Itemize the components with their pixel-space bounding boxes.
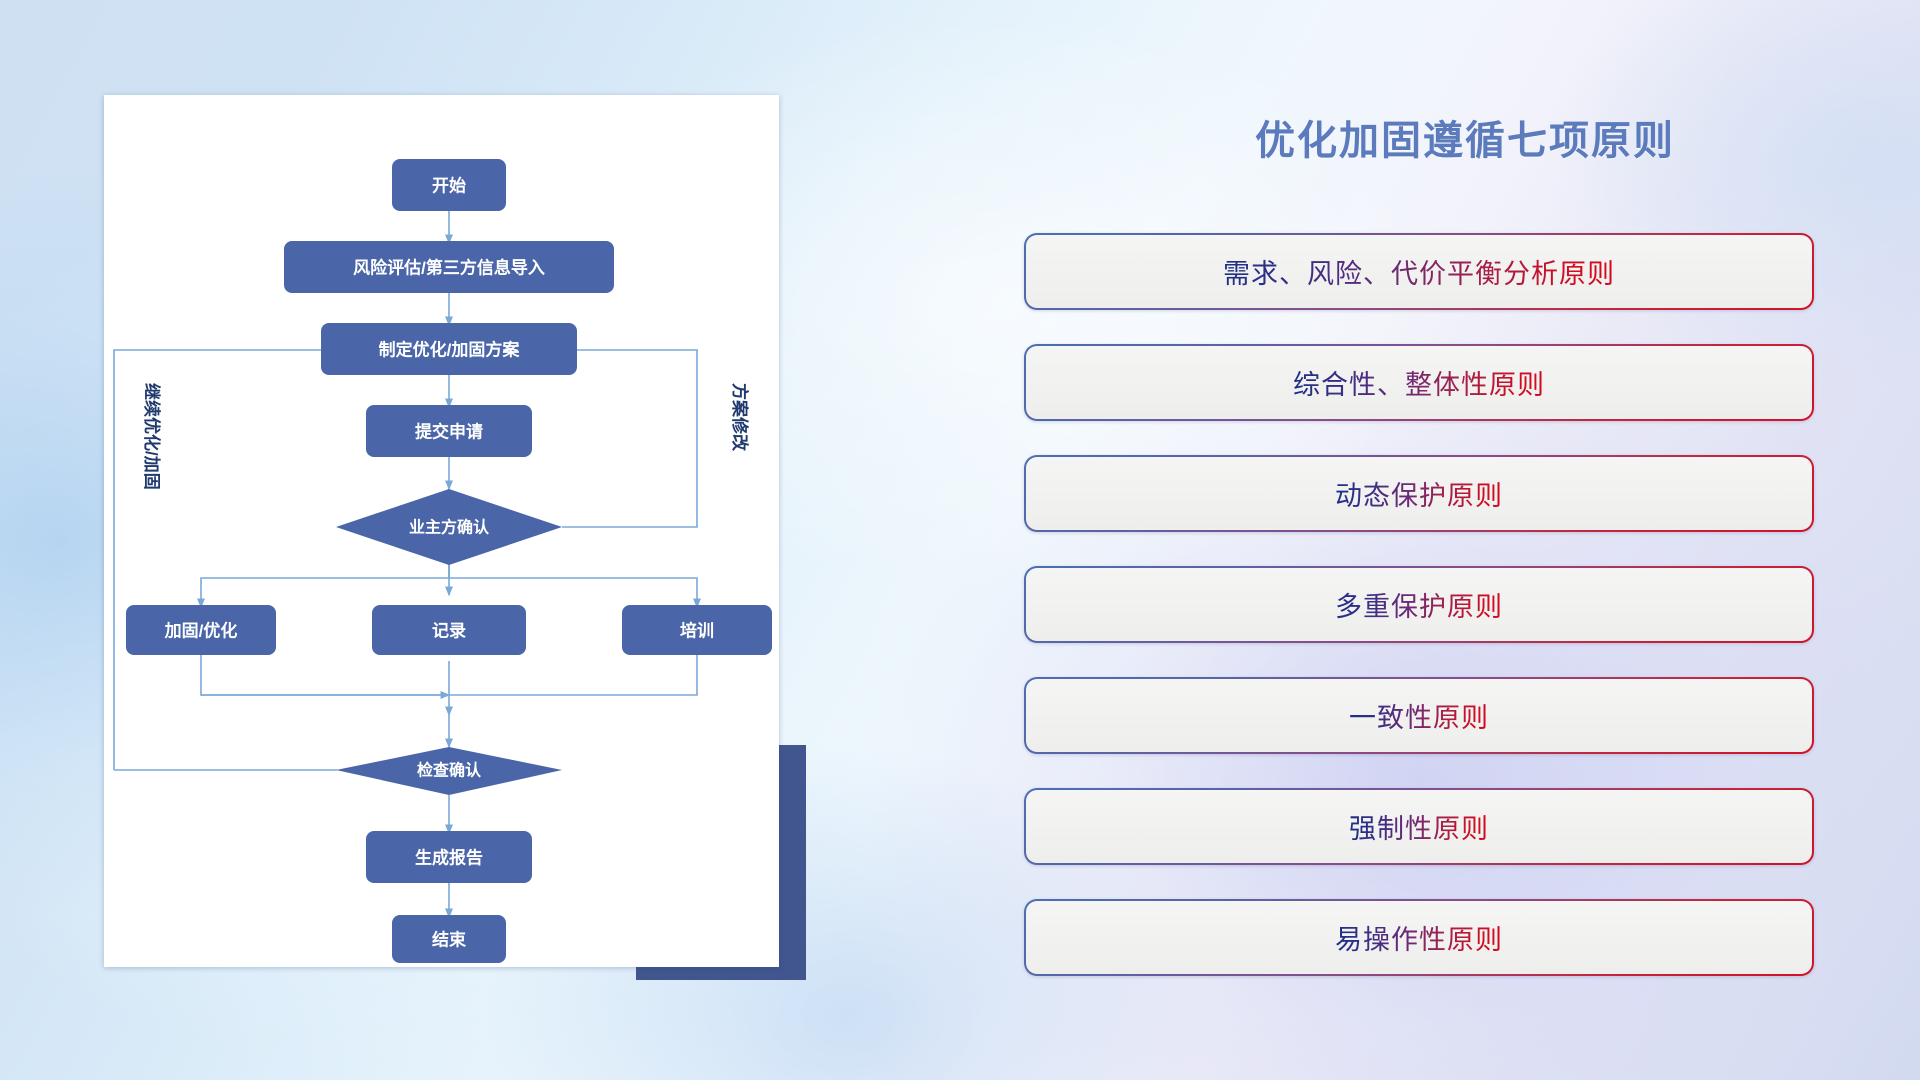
flowchart-panel: 开始 风险评估/第三方信息导入 制定优化/加固方案 提交申请 业主方确认 加固/ [0, 0, 860, 1080]
flow-node-submit-label: 提交申请 [415, 422, 483, 442]
flowchart-card: 开始 风险评估/第三方信息导入 制定优化/加固方案 提交申请 业主方确认 加固/ [104, 95, 779, 967]
principle-card-7[interactable]: 易操作性原则 [1024, 899, 1814, 976]
flow-merge-rails [114, 655, 697, 770]
flow-node-plan-label: 制定优化/加固方案 [379, 340, 521, 360]
flow-node-risk[interactable]: 风险评估/第三方信息导入 [284, 241, 614, 293]
flowchart-diagram: 开始 风险评估/第三方信息导入 制定优化/加固方案 提交申请 业主方确认 加固/ [104, 95, 779, 967]
flow-node-start-label: 开始 [432, 176, 466, 196]
flow-node-train-label: 培训 [680, 621, 714, 641]
flow-node-risk-label: 风险评估/第三方信息导入 [353, 258, 545, 278]
flow-node-check-confirm-label: 检查确认 [417, 761, 482, 780]
principle-card-7-inner: 易操作性原则 [1026, 901, 1812, 974]
flow-node-check-confirm[interactable]: 检查确认 [336, 747, 562, 795]
principle-card-3-label: 动态保护原则 [1335, 474, 1503, 513]
page-title: 优化加固遵循七项原则 [1010, 108, 1920, 166]
principle-card-2-label: 综合性、整体性原则 [1293, 363, 1545, 402]
flow-node-start[interactable]: 开始 [392, 159, 506, 211]
flow-node-reinforce-label: 加固/优化 [164, 621, 238, 641]
flow-edge-label-right-loop: 方案修改 [730, 383, 750, 452]
flow-node-owner-confirm-label: 业主方确认 [409, 518, 490, 537]
principles-list: 需求、风险、代价平衡分析原则 综合性、整体性原则 动态保护原则 多重保护原则 一… [1024, 233, 1814, 1010]
flow-node-record-label: 记录 [432, 622, 466, 641]
flow-node-submit[interactable]: 提交申请 [366, 405, 532, 457]
principle-card-4-label: 多重保护原则 [1335, 585, 1503, 624]
principle-card-2-inner: 综合性、整体性原则 [1026, 346, 1812, 419]
principle-card-4[interactable]: 多重保护原则 [1024, 566, 1814, 643]
principle-card-7-label: 易操作性原则 [1335, 918, 1503, 957]
principle-card-5-label: 一致性原则 [1349, 696, 1489, 735]
principle-card-2[interactable]: 综合性、整体性原则 [1024, 344, 1814, 421]
flow-node-report[interactable]: 生成报告 [366, 831, 532, 883]
flow-node-plan[interactable]: 制定优化/加固方案 [321, 323, 577, 375]
flow-node-end-label: 结束 [432, 930, 466, 950]
flow-node-reinforce[interactable]: 加固/优化 [126, 605, 276, 655]
principle-card-5[interactable]: 一致性原则 [1024, 677, 1814, 754]
flow-connectors [114, 211, 697, 917]
principle-card-5-inner: 一致性原则 [1026, 679, 1812, 752]
principle-card-1[interactable]: 需求、风险、代价平衡分析原则 [1024, 233, 1814, 310]
flow-node-end[interactable]: 结束 [392, 915, 506, 963]
flow-node-report-label: 生成报告 [415, 848, 483, 868]
principle-card-4-inner: 多重保护原则 [1026, 568, 1812, 641]
principle-card-6-label: 强制性原则 [1349, 807, 1489, 846]
flow-node-owner-confirm[interactable]: 业主方确认 [336, 489, 562, 565]
principle-card-3-inner: 动态保护原则 [1026, 457, 1812, 530]
principle-card-1-inner: 需求、风险、代价平衡分析原则 [1026, 235, 1812, 308]
principles-panel: 优化加固遵循七项原则 需求、风险、代价平衡分析原则 综合性、整体性原则 动态保护… [1010, 0, 1920, 1080]
flow-node-train[interactable]: 培训 [622, 605, 772, 655]
principle-card-6-inner: 强制性原则 [1026, 790, 1812, 863]
principle-card-1-label: 需求、风险、代价平衡分析原则 [1223, 252, 1615, 291]
flow-node-record[interactable]: 记录 [372, 605, 526, 655]
flow-edge-label-left-loop: 继续优化/加固 [142, 383, 162, 490]
principle-card-3[interactable]: 动态保护原则 [1024, 455, 1814, 532]
principle-card-6[interactable]: 强制性原则 [1024, 788, 1814, 865]
